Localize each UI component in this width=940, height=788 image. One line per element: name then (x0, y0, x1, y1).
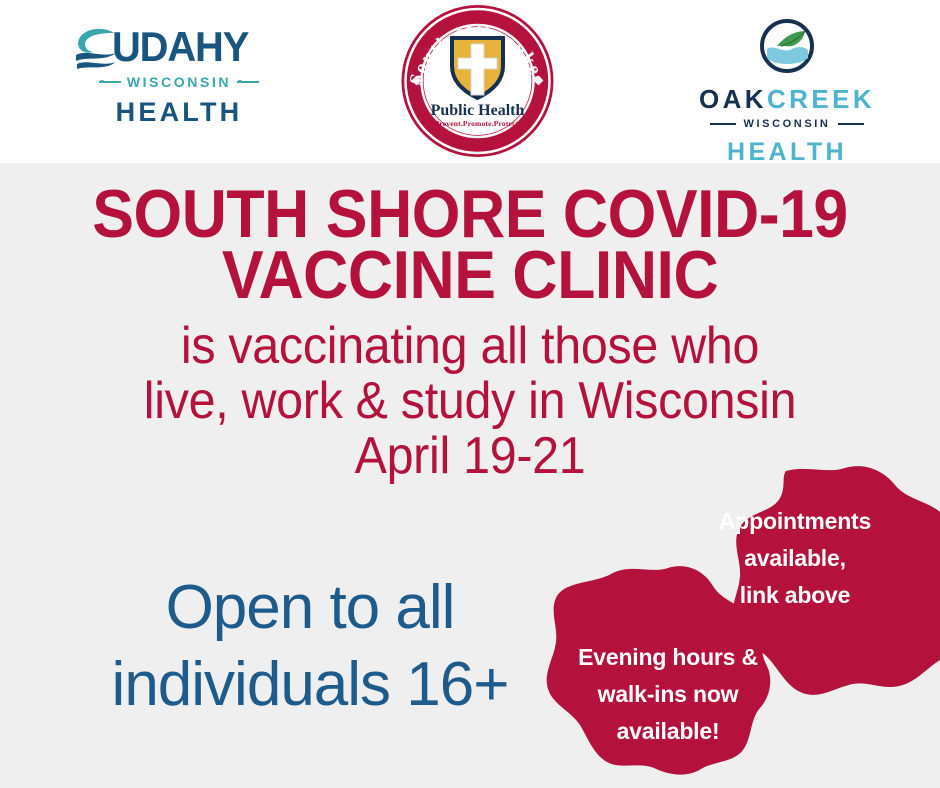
logo-oak-creek-health: OAKCREEK WISCONSIN HEALTH (682, 18, 892, 167)
dash-left-icon (710, 123, 736, 125)
subhead-line-1: is vaccinating all those who (181, 317, 759, 375)
evening-hours-burst-line-2: walk-ins now (556, 676, 780, 713)
flyer-body: SOUTH SHORE COVID-19 VACCINE CLINIC is v… (0, 163, 940, 788)
appointments-burst-line-3: link above (688, 577, 902, 614)
evening-hours-burst-line-3: available! (556, 713, 780, 750)
cudahy-wordmark: UDAHY (68, 26, 290, 70)
oak-creek-word-dark: OAK (699, 84, 767, 114)
logo-south-milwaukee-saint-francis-seal: South Milwaukee Saint Francis Public Hea… (400, 2, 555, 160)
svg-text:Public Health: Public Health (431, 102, 525, 119)
headline-line-2: VACCINE CLINIC (222, 237, 718, 313)
partner-logo-band: UDAHY WISCONSIN HEALTH (0, 0, 940, 163)
appointments-burst-line-1: Appointments (688, 503, 902, 540)
oak-creek-wordmark: OAKCREEK (682, 86, 892, 112)
oak-creek-division-label: HEALTH (682, 138, 892, 167)
flyer-poster: UDAHY WISCONSIN HEALTH (0, 0, 940, 788)
age-eligibility-statement: Open to all individuals 16+ (0, 569, 620, 723)
subhead-line-2: live, work & study in Wisconsin (144, 372, 796, 430)
cudahy-state-row: WISCONSIN (68, 74, 290, 90)
age-eligibility-line-1: Open to all (0, 569, 620, 646)
oak-creek-word-light: CREEK (767, 84, 875, 114)
public-health-seal-icon: South Milwaukee Saint Francis Public Hea… (400, 2, 555, 160)
oak-creek-state-label: WISCONSIN (744, 118, 831, 130)
dash-right-icon (237, 81, 259, 83)
oak-creek-state-row: WISCONSIN (682, 118, 892, 130)
evening-hours-burst-label: Evening hours & walk-ins now available! (556, 639, 780, 750)
oak-leaf-water-badge-icon (759, 18, 815, 74)
age-eligibility-line-2: individuals 16+ (0, 646, 620, 723)
svg-text:Prevent.Promote.Protect.: Prevent.Promote.Protect. (435, 119, 521, 128)
appointments-burst-line-2: available, (688, 540, 902, 577)
evening-hours-burst-line-1: Evening hours & (556, 639, 780, 676)
page-title-headline: SOUTH SHORE COVID-19 VACCINE CLINIC (38, 184, 903, 306)
appointments-burst-label: Appointments available, link above (688, 503, 902, 614)
cudahy-letters: UDAHY (112, 25, 248, 69)
cudahy-division-label: HEALTH (68, 97, 290, 128)
cudahy-state-label: WISCONSIN (127, 74, 231, 90)
dash-right-icon (838, 123, 864, 125)
logo-cudahy-health: UDAHY WISCONSIN HEALTH (68, 26, 290, 128)
eligibility-statement: is vaccinating all those who live, work … (33, 319, 907, 484)
clinic-date-range: April 19-21 (33, 429, 907, 484)
dash-left-icon (99, 81, 121, 83)
